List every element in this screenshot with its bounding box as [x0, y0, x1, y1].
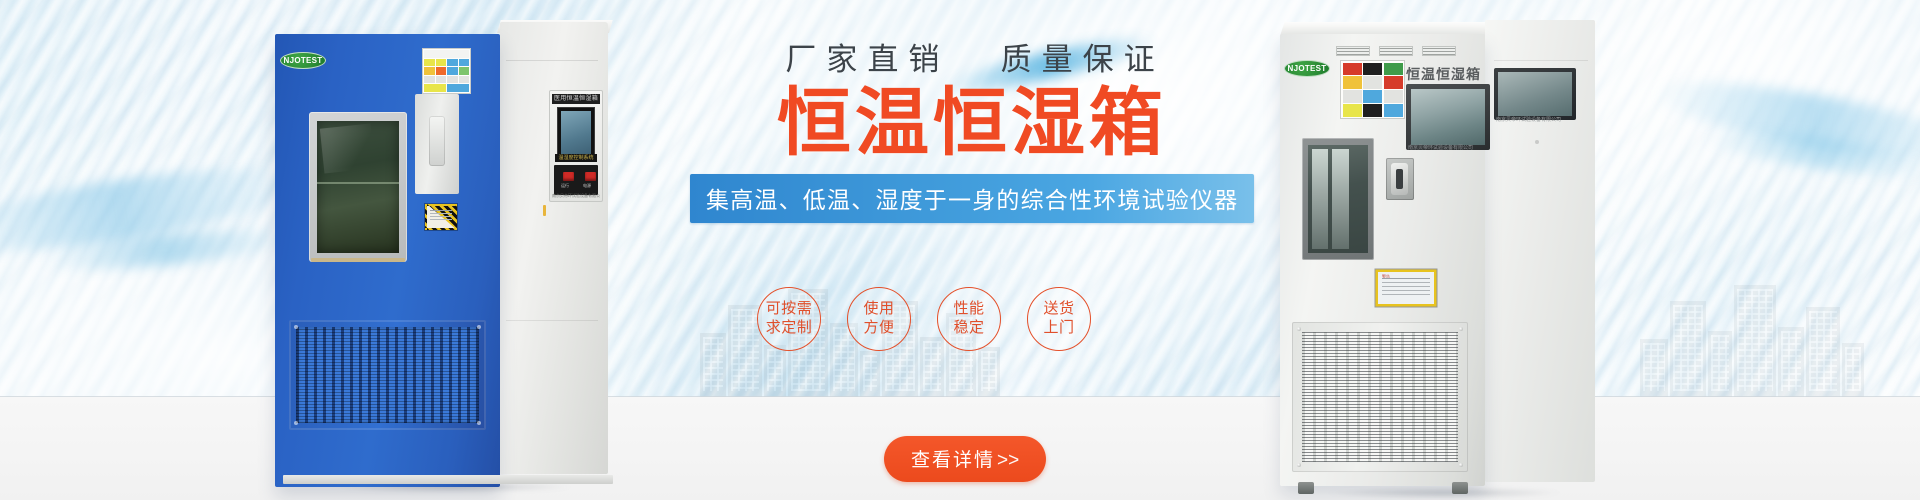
city-skyline-right — [1640, 277, 1900, 397]
tagline-part-2: 质量保证 — [1001, 42, 1165, 77]
right-chamber-window-glass — [1308, 145, 1368, 253]
control-panel-button-area: 运行 电源 — [554, 165, 598, 195]
banner-headline: 恒温恒湿箱 — [690, 84, 1250, 162]
left-chamber-side-marker — [543, 205, 546, 216]
promo-banner: NJOTEST — [0, 0, 1920, 500]
left-chamber-viewing-window — [309, 112, 407, 262]
left-chamber-control-panel: 医用恒温恒湿箱 温湿度控制系统 运行 电源 南京贝帝环试验设备有限公司 — [549, 90, 603, 202]
right-chamber-vent-grille — [1302, 332, 1458, 462]
feature-badge-easy-use-line1: 使用 — [863, 300, 894, 319]
right-chamber-screen-label: 南京贝帝环试验设备有限公司 — [1408, 144, 1473, 151]
right-chamber-shadow — [1286, 488, 1602, 500]
right-chamber-top-vent-slots — [1336, 46, 1456, 56]
right-chamber-side-marker — [1535, 140, 1539, 144]
feature-badge-stable-line1: 性能 — [953, 300, 984, 319]
right-chamber-vent-frame — [1292, 322, 1468, 472]
view-details-label: 查看详情 — [911, 450, 995, 471]
feature-badge-custom-line1: 可按需 — [766, 300, 813, 319]
feature-badge-custom[interactable]: 可按需 求定制 — [757, 287, 821, 351]
feature-badge-custom-line2: 求定制 — [766, 319, 813, 338]
right-chamber-front-body: NJOTEST 恒温恒湿箱 南京贝帝环试验设备有限公司 — [1280, 34, 1485, 486]
left-chamber-base-plinth — [283, 475, 613, 484]
control-panel-manufacturer-text: 南京贝帝环试验设备有限公司 — [552, 192, 600, 199]
left-chamber-vent-frame — [289, 320, 486, 430]
feature-badge-easy-use-line2: 方便 — [863, 319, 894, 338]
right-chamber-hazard-label: 警告 — [1378, 272, 1434, 304]
control-panel-title: 医用恒温恒湿箱 — [552, 94, 600, 104]
product-image-left-chamber: NJOTEST — [275, 20, 610, 490]
view-details-button[interactable]: 查看详情>> — [884, 436, 1046, 482]
left-chamber-window-glass — [317, 121, 399, 253]
right-chamber-viewing-window — [1302, 138, 1374, 260]
right-chamber-screen-glass — [1411, 89, 1485, 145]
feature-badge-stable[interactable]: 性能 稳定 — [937, 287, 1001, 351]
brand-logo-icon: NJOTEST — [1284, 60, 1330, 77]
brand-logo-icon: NJOTEST — [280, 52, 326, 69]
right-chamber-foot-right — [1452, 482, 1468, 494]
left-chamber-front-body: NJOTEST — [275, 34, 500, 487]
left-chamber-hazard-label — [425, 204, 457, 230]
feature-badge-stable-line2: 稳定 — [953, 319, 984, 338]
right-chamber-door-handle — [1391, 163, 1408, 195]
control-panel-run-button — [563, 172, 574, 181]
tagline-part-1: 厂家直销 — [785, 42, 949, 77]
right-chamber-side-seam — [1494, 60, 1588, 61]
right-chamber-warning-sticker — [1340, 60, 1405, 119]
power-button-label: 电源 — [583, 183, 591, 189]
left-chamber-vent-grille — [296, 327, 479, 423]
right-chamber-foot-left — [1298, 482, 1314, 494]
right-chamber-touchscreen — [1406, 84, 1490, 150]
right-chamber-printed-product-name: 恒温恒湿箱 — [1405, 64, 1481, 84]
feature-badge-delivery-line2: 上门 — [1043, 319, 1074, 338]
left-chamber-side-seam-lower — [506, 320, 598, 321]
control-panel-display — [557, 107, 595, 159]
hazard-label-text: 警告 — [1382, 274, 1390, 280]
right-chamber-side-display-label: 南京贝帝环试验设备有限公司 — [1496, 116, 1561, 123]
left-chamber-side-seam-upper — [506, 60, 598, 61]
right-chamber-side-display — [1494, 68, 1576, 120]
left-chamber-door-handle — [429, 116, 445, 166]
control-panel-power-button — [585, 172, 596, 181]
feature-badge-delivery[interactable]: 送货 上门 — [1027, 287, 1091, 351]
feature-badge-delivery-line1: 送货 — [1043, 300, 1074, 319]
feature-badge-easy-use[interactable]: 使用 方便 — [847, 287, 911, 351]
feature-badges: 可按需 求定制 使用 方便 性能 稳定 送货 上门 — [757, 287, 1091, 351]
product-image-right-chamber: 南京贝帝环试验设备有限公司 NJOTEST 恒温恒湿箱 南京贝帝环试验设备有限公… — [1280, 12, 1610, 490]
control-panel-status-bar: 温湿度控制系统 — [555, 154, 597, 162]
banner-tagline: 厂家直销 质量保证 — [690, 44, 1250, 75]
left-chamber-window-sill — [311, 258, 405, 262]
run-button-label: 运行 — [561, 183, 569, 189]
double-chevron-right-icon: >> — [997, 450, 1019, 471]
left-chamber-warning-sticker — [422, 48, 471, 94]
banner-subtitle: 集高温、低温、湿度于一身的综合性环境试验仪器 — [690, 174, 1254, 223]
banner-copy-block: 厂家直销 质量保证 恒温恒湿箱 集高温、低温、湿度于一身的综合性环境试验仪器 — [690, 44, 1250, 223]
